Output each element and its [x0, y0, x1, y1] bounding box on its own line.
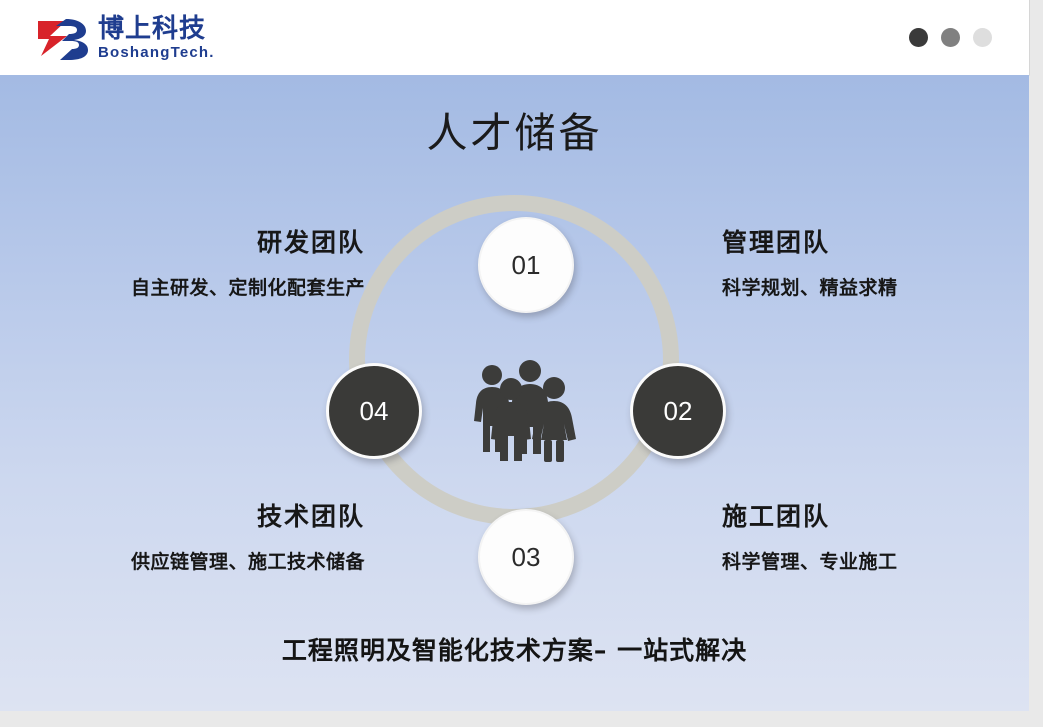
logo-wordmark: 博上科技 BoshangTech.	[98, 16, 215, 60]
node-02-number: 02	[664, 396, 693, 427]
diagram-node-02[interactable]: 02	[630, 363, 726, 459]
people-group-icon	[470, 360, 582, 464]
quadrant-management-subtitle: 科学规划、精益求精	[722, 273, 1022, 300]
quadrant-technical-subtitle: 供应链管理、施工技术储备	[0, 547, 365, 574]
node-01-number: 01	[512, 250, 541, 281]
header-dot-light	[973, 28, 992, 47]
quadrant-construction-title: 施工团队	[722, 497, 1022, 533]
slide-content-area: 人才储备	[0, 75, 1029, 711]
diagram-node-03[interactable]: 03	[478, 509, 574, 605]
quadrant-rd-title: 研发团队	[0, 223, 365, 259]
quadrant-label-construction-team: 施工团队 科学管理、专业施工	[722, 497, 1022, 574]
company-logo: 博上科技 BoshangTech.	[36, 13, 286, 63]
header-dot-group	[909, 28, 992, 47]
quadrant-rd-subtitle: 自主研发、定制化配套生产	[0, 273, 365, 300]
quadrant-label-management-team: 管理团队 科学规划、精益求精	[722, 223, 1022, 300]
slide-header-band: 博上科技 BoshangTech.	[0, 0, 1030, 76]
logo-english-name: BoshangTech.	[98, 45, 215, 60]
diagram-node-04[interactable]: 04	[326, 363, 422, 459]
logo-chinese-name: 博上科技	[98, 16, 215, 42]
quadrant-management-title: 管理团队	[722, 223, 1022, 259]
diagram-node-01[interactable]: 01	[478, 217, 574, 313]
node-03-number: 03	[512, 542, 541, 573]
quadrant-label-technical-team: 技术团队 供应链管理、施工技术储备	[0, 497, 365, 574]
quadrant-label-rd-team: 研发团队 自主研发、定制化配套生产	[0, 223, 365, 300]
slide-caption: 工程照明及智能化技术方案– 一站式解决	[0, 631, 1029, 667]
quadrant-technical-title: 技术团队	[0, 497, 365, 533]
header-dot-medium	[941, 28, 960, 47]
quadrant-construction-subtitle: 科学管理、专业施工	[722, 547, 1022, 574]
boshang-b-logo-mark-icon	[36, 15, 92, 62]
page-title: 人才储备	[0, 99, 1029, 159]
header-dot-dark	[909, 28, 928, 47]
node-04-number: 04	[360, 396, 389, 427]
presentation-slide: 博上科技 BoshangTech. 人才储备	[0, 0, 1043, 727]
